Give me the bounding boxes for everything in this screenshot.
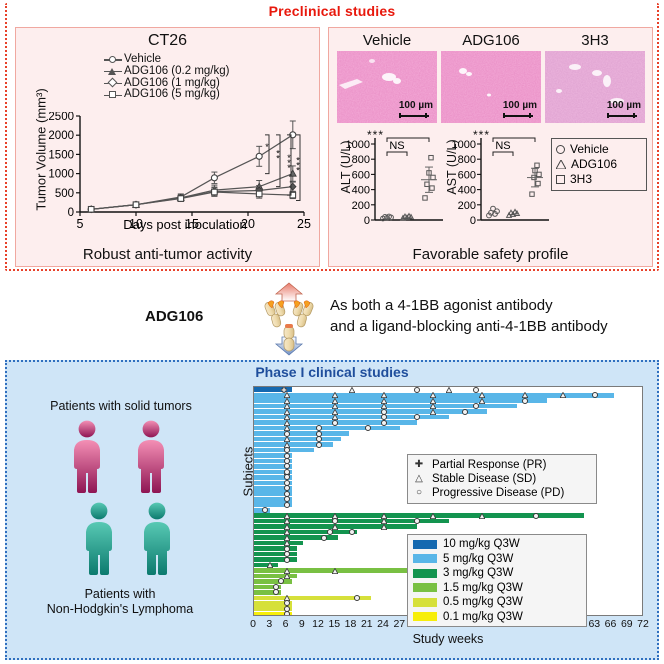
- legend-label: 5 mg/kg Q3W: [443, 552, 513, 567]
- legend-label: Stable Disease (SD): [432, 472, 536, 486]
- ast-y-axis-label: AST (U/L): [445, 122, 459, 212]
- nhl-caption: Patients with Non-Hodgkin's Lymphoma: [15, 587, 225, 617]
- clinical-title: Phase I clinical studies: [7, 364, 657, 380]
- svg-text:600: 600: [352, 169, 370, 181]
- scalebar-icon: [503, 113, 531, 118]
- safety-caption: Favorable safety profile: [329, 246, 652, 263]
- x-tick-label: 66: [605, 618, 617, 630]
- x-tick-label: 3: [266, 618, 272, 630]
- svg-text:2000: 2000: [48, 130, 74, 142]
- x-tick-label: 15: [328, 618, 340, 630]
- line-marker-circle-icon: [104, 54, 122, 65]
- legend-label: Partial Response (PR): [432, 458, 546, 472]
- legend-label: 0.1 mg/kg Q3W: [443, 610, 523, 625]
- marker-stable-disease: [349, 387, 355, 393]
- preclinical-title: Preclinical studies: [7, 3, 657, 19]
- marker-stable-disease: [284, 573, 290, 579]
- antibody-icon: [258, 282, 320, 356]
- marker-stable-disease: [332, 568, 338, 574]
- svg-text:*: *: [276, 154, 280, 164]
- ct26-y-axis-label: Tumor Volume (mm³): [34, 85, 49, 215]
- ct26-caption: Robust anti-tumor activity: [16, 246, 319, 263]
- marker-progressive-disease: [365, 425, 371, 431]
- legend-item: ADG106: [556, 157, 642, 172]
- swimmer-bar: [254, 398, 547, 403]
- ct26-card: CT26 Vehicle ADG106 (0.2 mg/kg) ADG106 (…: [15, 27, 320, 267]
- ast-significance: ***: [473, 128, 490, 142]
- alt-significance: ***: [367, 128, 384, 142]
- patient-icon-pink-1: [65, 420, 109, 494]
- legend-item: 0.1 mg/kg Q3W: [413, 610, 581, 625]
- marker-stable-disease: [430, 409, 436, 415]
- legend-item: 3H3: [556, 172, 642, 187]
- swimmer-bar: [254, 541, 303, 546]
- legend-label: 3 mg/kg Q3W: [443, 566, 513, 581]
- histology-adg106: ADG106 100 µm: [441, 32, 541, 123]
- alt-scatter-panel: ALT (U/L) *** 02004006008001000NS: [335, 132, 447, 240]
- marker-stable-disease: [479, 398, 485, 404]
- line-marker-diamond-icon: [104, 78, 122, 89]
- marker-progressive-disease: [316, 442, 322, 448]
- svg-text:*: *: [287, 163, 291, 173]
- svg-text:2500: 2500: [48, 112, 74, 123]
- scalebar-label: 100 µm: [503, 100, 537, 111]
- svg-text:NS: NS: [389, 140, 404, 152]
- svg-text:1000: 1000: [48, 169, 74, 181]
- legend-label: Progressive Disease (PD): [432, 486, 564, 500]
- x-tick-label: 69: [621, 618, 633, 630]
- svg-text:*: *: [296, 166, 300, 176]
- adg106-description: As both a 4-1BB agonist antibody and a l…: [330, 295, 608, 337]
- legend-label: 3H3: [570, 172, 592, 187]
- legend-label: Vehicle: [570, 142, 609, 157]
- svg-text:400: 400: [458, 185, 476, 197]
- marker-stable-disease: [332, 524, 338, 530]
- swimmer-x-axis-label: Study weeks: [253, 632, 643, 646]
- legend-item: ○ Progressive Disease (PD): [413, 486, 591, 500]
- swimmer-plot: Subjects 0369121518212427303336394245485…: [239, 386, 643, 638]
- nhl-caption-line2: Non-Hodgkin's Lymphoma: [15, 602, 225, 617]
- marker-progressive-disease: [327, 529, 333, 535]
- legend-label: 1.5 mg/kg Q3W: [443, 581, 523, 596]
- legend-item: 0.5 mg/kg Q3W: [413, 595, 581, 610]
- marker-stable-disease: [381, 524, 387, 530]
- square-marker-icon: [556, 175, 565, 184]
- adg106-description-band: ADG106 As both a 4-1BB agonist antibody …: [5, 275, 659, 357]
- svg-text:400: 400: [352, 185, 370, 197]
- swimmer-bar: [254, 579, 292, 584]
- marker-stable-disease: [560, 392, 566, 398]
- partial-response-icon: ✚: [413, 458, 425, 472]
- scalebar-icon: [607, 113, 635, 118]
- marker-stable-disease: [479, 513, 485, 519]
- dose-color-swatch: [413, 612, 437, 621]
- dose-color-swatch: [413, 569, 437, 578]
- ct26-plot: Tumor Volume (mm³) 050010001500200025005…: [32, 112, 312, 237]
- ct26-legend: Vehicle ADG106 (0.2 mg/kg) ADG106 (1 mg/…: [104, 54, 229, 101]
- adg106-description-line2: and a ligand-blocking anti-4-1BB antibod…: [330, 316, 608, 337]
- legend-item: ADG106 (5 mg/kg): [104, 89, 229, 101]
- marker-stable-disease: [430, 513, 436, 519]
- histology-image: 100 µm: [545, 51, 645, 123]
- legend-item: 3 mg/kg Q3W: [413, 566, 581, 581]
- histology-vehicle: Vehicle 100 µm: [337, 32, 437, 123]
- line-marker-square-icon: [104, 90, 122, 101]
- nhl-caption-line1: Patients with: [15, 587, 225, 602]
- svg-text:800: 800: [458, 154, 476, 166]
- marker-progressive-disease: [462, 409, 468, 415]
- adg106-description-line1: As both a 4-1BB agonist antibody: [330, 295, 608, 316]
- svg-text:500: 500: [55, 188, 74, 200]
- x-tick-label: 12: [312, 618, 324, 630]
- x-tick-label: 63: [588, 618, 600, 630]
- line-marker-triangle-icon: [104, 66, 122, 77]
- patient-icon-pink-2: [129, 420, 173, 494]
- ct26-chart-title: CT26: [16, 32, 319, 50]
- dose-color-swatch: [413, 598, 437, 607]
- marker-progressive-disease: [262, 507, 268, 513]
- x-tick-label: 9: [299, 618, 305, 630]
- marker-stable-disease: [446, 387, 452, 393]
- x-tick-label: 24: [377, 618, 389, 630]
- x-tick-label: 6: [283, 618, 289, 630]
- swimmer-bar: [254, 546, 297, 551]
- solid-tumor-caption: Patients with solid tumors: [23, 399, 219, 413]
- dose-color-swatch: [413, 554, 437, 563]
- svg-text:0: 0: [470, 215, 476, 227]
- legend-item: ✚ Partial Response (PR): [413, 458, 591, 472]
- swimmer-bar: [254, 574, 297, 579]
- marker-progressive-disease: [354, 595, 360, 601]
- histology-title: Vehicle: [337, 32, 437, 49]
- marker-progressive-disease: [332, 420, 338, 426]
- legend-item: Vehicle: [556, 142, 642, 157]
- histology-3h3: 3H3 100 µm: [545, 32, 645, 123]
- legend-label: 0.5 mg/kg Q3W: [443, 595, 523, 610]
- legend-label: ADG106 (5 mg/kg): [124, 89, 220, 101]
- alt-y-axis-label: ALT (U/L): [339, 122, 353, 212]
- svg-text:*: *: [265, 142, 269, 152]
- histology-title: 3H3: [545, 32, 645, 49]
- swimmer-bar: [254, 563, 278, 568]
- svg-text:NS: NS: [495, 140, 510, 152]
- marker-progressive-disease: [414, 387, 420, 393]
- marker-progressive-disease: [284, 611, 290, 616]
- svg-text:1500: 1500: [48, 149, 74, 161]
- legend-item: 1.5 mg/kg Q3W: [413, 581, 581, 596]
- enzyme-legend: Vehicle ADG106 3H3: [551, 138, 647, 191]
- stable-disease-icon: △: [413, 472, 425, 486]
- legend-label: ADG106 (0.2 mg/kg): [124, 66, 229, 78]
- scalebar-label: 100 µm: [607, 100, 641, 111]
- legend-label: ADG106: [571, 157, 617, 172]
- swimmer-bar: [254, 437, 341, 442]
- marker-progressive-disease: [284, 557, 290, 563]
- ct26-x-axis-label: Days post inoculation: [70, 217, 300, 232]
- legend-item: ADG106 (0.2 mg/kg): [104, 66, 229, 78]
- svg-text:200: 200: [352, 200, 370, 212]
- swimmer-bar: [254, 557, 297, 562]
- histology-image: 100 µm: [441, 51, 541, 123]
- preclinical-panel: Preclinical studies CT26 Vehicle ADG106 …: [5, 3, 659, 271]
- swimmer-bar: [254, 426, 400, 431]
- marker-progressive-disease: [414, 518, 420, 524]
- svg-text:600: 600: [458, 169, 476, 181]
- marker-progressive-disease: [284, 502, 290, 508]
- adg106-label: ADG106: [145, 308, 203, 325]
- legend-item: 5 mg/kg Q3W: [413, 552, 581, 567]
- dose-legend: 10 mg/kg Q3W5 mg/kg Q3W3 mg/kg Q3W1.5 mg…: [407, 534, 587, 627]
- patient-icon-teal-2: [135, 502, 179, 576]
- svg-text:200: 200: [458, 200, 476, 212]
- circle-marker-icon: [556, 145, 565, 154]
- x-tick-label: 27: [393, 618, 405, 630]
- ast-scatter-panel: AST (U/L) *** 02004006008001000NS: [441, 132, 553, 240]
- legend-item: △ Stable Disease (SD): [413, 472, 591, 486]
- marker-progressive-disease: [349, 529, 355, 535]
- scalebar-label: 100 µm: [399, 100, 433, 111]
- progressive-disease-icon: ○: [413, 486, 425, 500]
- scalebar-icon: [399, 113, 427, 118]
- legend-label: 10 mg/kg Q3W: [443, 537, 520, 552]
- response-legend: ✚ Partial Response (PR) △ Stable Disease…: [407, 454, 597, 504]
- svg-text:0: 0: [364, 215, 370, 227]
- marker-progressive-disease: [522, 398, 528, 404]
- dose-color-swatch: [413, 540, 437, 549]
- patient-icon-teal-1: [77, 502, 121, 576]
- legend-item: 10 mg/kg Q3W: [413, 537, 581, 552]
- triangle-marker-icon: [556, 160, 566, 169]
- dose-color-swatch: [413, 583, 437, 592]
- clinical-panel: Phase I clinical studies Patients with s…: [5, 360, 659, 660]
- x-tick-label: 0: [250, 618, 256, 630]
- marker-progressive-disease: [533, 513, 539, 519]
- x-tick-label: 72: [637, 618, 649, 630]
- svg-text:800: 800: [352, 154, 370, 166]
- swimmer-bar: [254, 530, 357, 535]
- histology-image: 100 µm: [337, 51, 437, 123]
- histology-title: ADG106: [441, 32, 541, 49]
- marker-progressive-disease: [381, 420, 387, 426]
- swimmer-bar: [254, 552, 297, 557]
- marker-stable-disease: [267, 562, 273, 568]
- marker-progressive-disease: [414, 414, 420, 420]
- x-tick-label: 18: [345, 618, 357, 630]
- swimmer-bar: [254, 431, 349, 436]
- x-tick-label: 21: [361, 618, 373, 630]
- safety-card: Vehicle 100 µm ADG106: [328, 27, 653, 267]
